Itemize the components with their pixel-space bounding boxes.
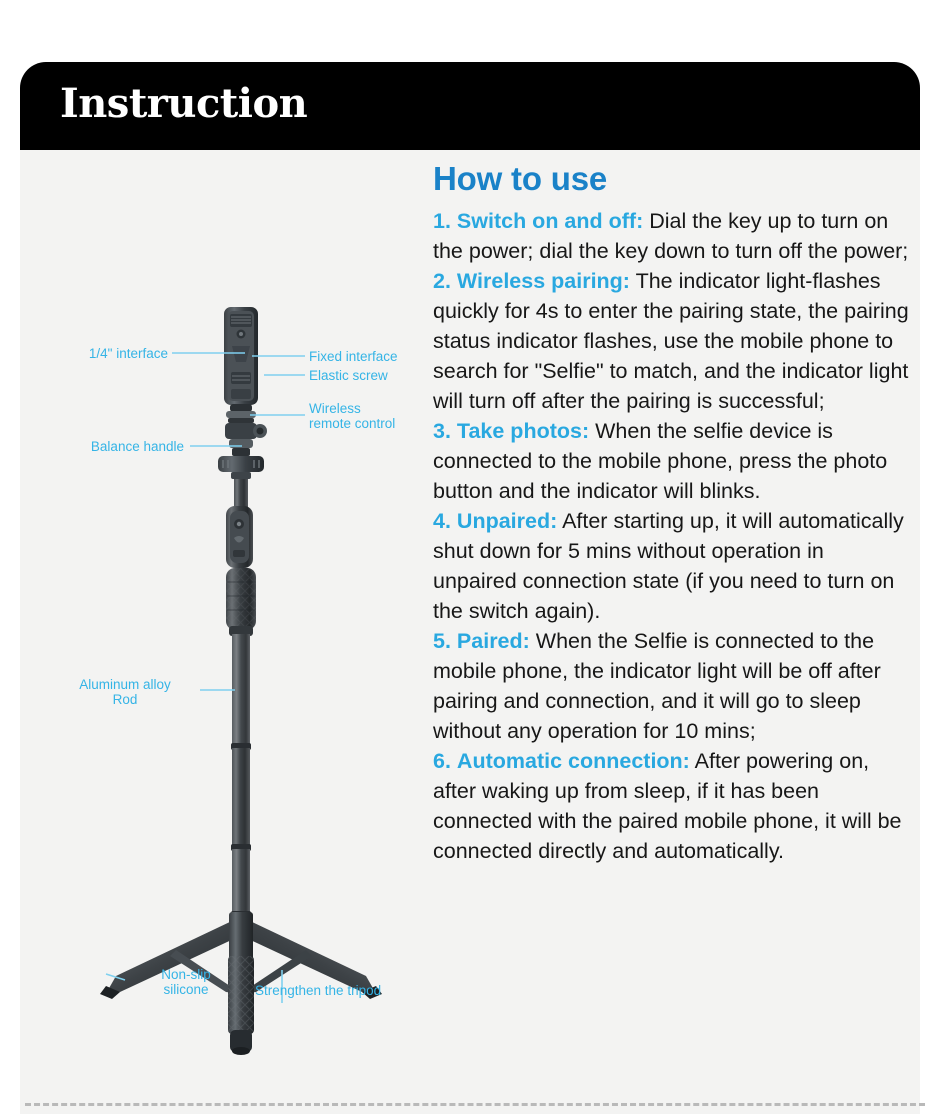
diagram-label-non-slip-silicone: Non-slip silicone <box>130 967 242 997</box>
instruction-page: Instruction <box>0 0 940 1114</box>
content-surface: 1/4" interface Fixed interface Elastic s… <box>20 150 920 1114</box>
step-label: Wireless pairing: <box>457 269 630 293</box>
instruction-step: 1. Switch on and off: Dial the key up to… <box>433 206 911 266</box>
diagram-label-aluminum-alloy-rod: Aluminum alloy Rod <box>55 677 195 707</box>
instructions-heading: How to use <box>433 160 911 198</box>
instruction-step: 2. Wireless pairing: The indicator light… <box>433 266 911 416</box>
step-label: Automatic connection: <box>457 749 690 773</box>
step-label: Unpaired: <box>457 509 557 533</box>
step-label: Switch on and off: <box>457 209 643 233</box>
page-title: Instruction <box>60 80 307 127</box>
balance-handle-group <box>226 568 256 636</box>
diagram-label-balance-handle: Balance handle <box>50 439 184 454</box>
product-diagram: 1/4" interface Fixed interface Elastic s… <box>20 150 440 1114</box>
step-number: 6. <box>433 749 451 773</box>
aluminum-alloy-rod-group <box>231 634 251 918</box>
step-number: 1. <box>433 209 451 233</box>
step-number: 2. <box>433 269 451 293</box>
step-label: Paired: <box>457 629 530 653</box>
step-number: 4. <box>433 509 451 533</box>
diagram-label-strengthen-the-tripod: Strengthen the tripod <box>255 983 435 998</box>
diagram-label-fixed-interface: Fixed interface <box>309 349 439 364</box>
diagram-label-wireless-remote-control: Wireless remote control <box>309 401 439 431</box>
wireless-remote-group <box>226 506 253 568</box>
phone-clamp-group <box>224 307 258 405</box>
diagram-label-quarter-inch-interface: 1/4" interface <box>32 346 168 361</box>
step-label: Take photos: <box>457 419 589 443</box>
instruction-step: 3. Take photos: When the selfie device i… <box>433 416 911 506</box>
bottom-divider <box>25 1103 925 1106</box>
instruction-banner: Instruction <box>20 62 920 150</box>
instruction-step: 5. Paired: When the Selfie is connected … <box>433 626 911 746</box>
step-number: 5. <box>433 629 451 653</box>
instruction-step: 6. Automatic connection: After powering … <box>433 746 911 866</box>
ball-joint-group <box>218 404 267 479</box>
diagram-label-elastic-screw: Elastic screw <box>309 368 439 383</box>
step-number: 3. <box>433 419 451 443</box>
instruction-step: 4. Unpaired: After starting up, it will … <box>433 506 911 626</box>
instructions-column: How to use 1. Switch on and off: Dial th… <box>433 160 911 866</box>
